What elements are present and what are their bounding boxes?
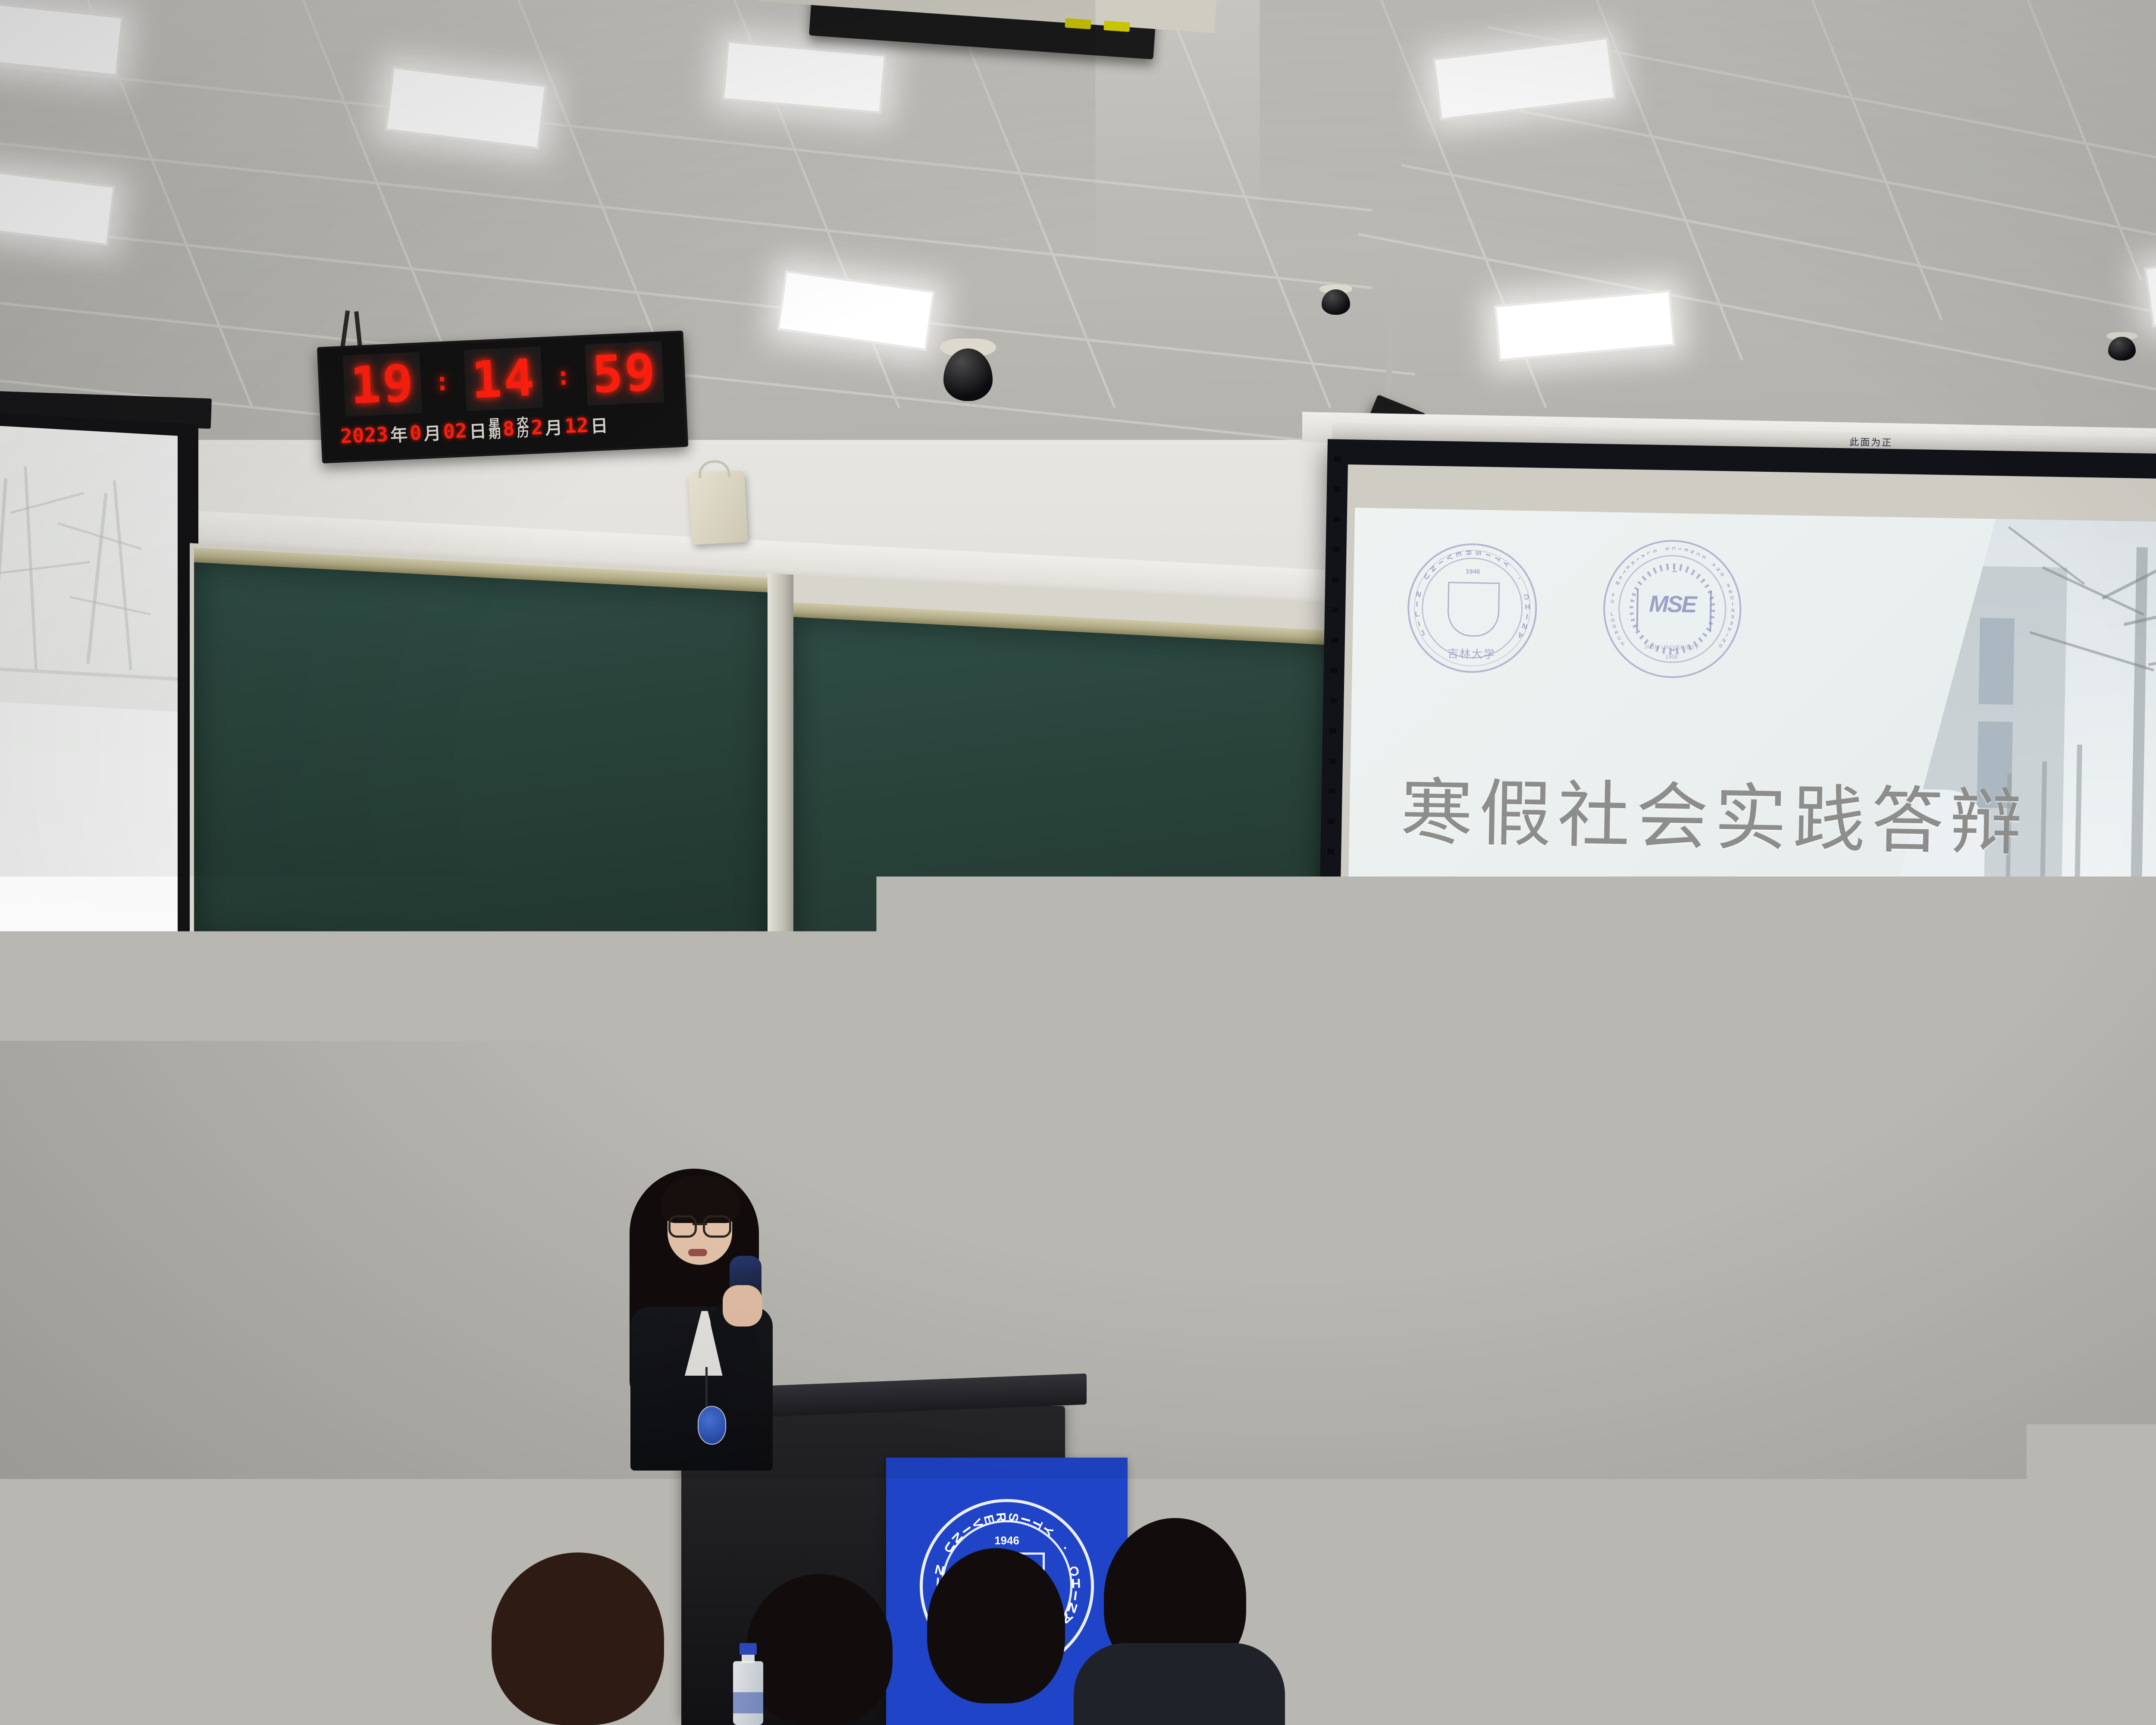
left-screen-surface [0,425,178,1207]
clock-month-suffix: 月 [423,419,442,445]
audience-student [927,1548,1065,1703]
slide-photo-snowy-campus [1783,515,2156,1319]
water-bottle[interactable] [1850,1397,1882,1496]
clock-seconds: 59 [585,341,664,406]
audience-student [746,1574,893,1725]
clock-year-suffix: 年 [390,421,408,447]
clock-minutes: 14 [464,346,543,411]
clock-day: 02 [442,419,467,443]
clock-weekday-label: 星期 [488,419,501,439]
blackboard-panel-top-left [194,562,768,972]
left-projection-screen [0,410,207,1255]
slide-title-divider [1490,898,1637,906]
audience-shoulders [1074,1643,1285,1725]
clock-day-suffix: 日 [469,417,487,443]
slide-title: 寒假社会实践答辩 [1400,776,2029,859]
water-bottle[interactable] [2126,1643,2156,1725]
mse-school-emblem: SCHOOL OF MATERIALS SCIENCE AND ENGINEER… [1602,539,1743,679]
jlu-emblem-shield [1447,582,1500,637]
projected-slide: JILIN UNIVERSITY · CHINA 1946 吉林大学 SCHOO… [1341,508,2156,1319]
screen-black-border: JILIN UNIVERSITY · CHINA 1946 吉林大学 SCHOO… [1312,439,2156,1377]
clock-colon-1: : [434,368,452,395]
audience-student [259,1604,405,1725]
projector-indicator [1103,21,1130,32]
blackboard-panel-top-right [793,617,1350,1026]
wall-speaker [688,471,748,545]
jilin-university-emblem: JILIN UNIVERSITY · CHINA 1946 吉林大学 [1407,542,1538,674]
clock-lunar-label: 农历 [517,418,530,438]
lecture-hall-photo: 19 : 14 : 59 2023 年 0 月 02 日 星期 8 农历 2 月… [0,0,2156,1725]
presenter-hand [723,1285,762,1327]
clock-colon-2: : [555,363,573,389]
student-presenter [621,1164,793,1466]
audience-student [1828,1639,2001,1725]
clock-hours: 19 [343,352,422,417]
slide-subtitle-block: 材料科学与工程学院 材料物理 16220302李馨 2023. 4. 2 [1396,953,1701,1142]
mse-emblem-monogram: MSE [1603,590,1742,619]
clock-lunar-month-suffix: 月 [545,414,563,439]
lectern-seal-year: 1946 [923,1534,1091,1547]
presenter-glasses [668,1215,731,1234]
water-bottle[interactable] [1818,1436,1846,1527]
clock-lunar-month: 2 [530,415,543,439]
dome-camera [2106,332,2137,361]
jlu-emblem-chinese: 吉林大学 [1407,644,1536,662]
slide-subtitle-line: 材料物理 [1398,999,1700,1050]
presenter-lanyard [705,1367,708,1410]
presenter-badge [698,1406,726,1445]
main-projection-screen[interactable]: 此面为正 [1311,439,2156,1389]
audience-student [492,1552,664,1725]
slide-subtitle-line: 16220302李馨 [1397,1044,1699,1096]
clock-weekday-value: 8 [502,417,515,440]
slide-subtitle-line: 材料科学与工程学院 [1398,953,1701,1004]
projector-indicator [1065,18,1091,29]
blackboard-panel-bottom-right [793,1015,1350,1432]
clock-lunar-day-suffix: 日 [590,412,608,438]
clock-lunar-day: 12 [564,414,589,438]
presenter-mouth [688,1249,707,1256]
audience-glasses [1669,1544,1733,1560]
audience-student [1570,1621,1733,1725]
dome-camera [1319,285,1352,315]
dome-camera [940,339,996,401]
audience-student [1268,1639,1432,1725]
clock-time: 19 : 14 : 59 [343,342,664,416]
slide-subtitle-line: 2023. 4. 2 [1396,1090,1698,1142]
screen-matte-surface: JILIN UNIVERSITY · CHINA 1946 吉林大学 SCHOO… [1333,464,2156,1345]
clock-year: 2023 [340,423,389,448]
digital-wall-clock: 19 : 14 : 59 2023 年 0 月 02 日 星期 8 农历 2 月… [317,330,688,463]
water-bottle[interactable] [733,1643,763,1725]
clock-month: 0 [409,421,422,445]
audience-student [1664,1436,1798,1587]
